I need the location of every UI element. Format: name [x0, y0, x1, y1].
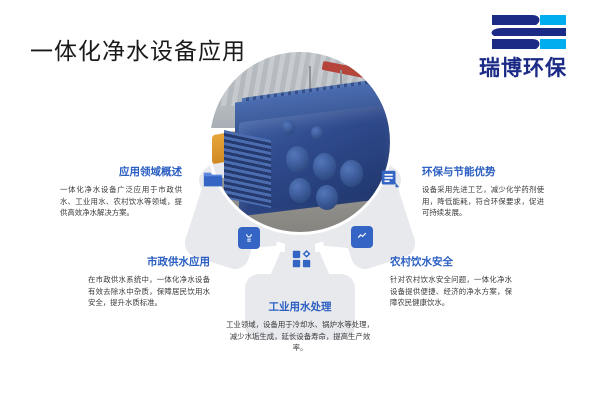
section-title: 环保与节能优势	[422, 165, 544, 179]
section-body: 一体化净水设备广泛应用于市政供水、工业用水、农村饮水等领域，提供高效净水解决方案…	[60, 184, 182, 219]
wave-lines-logo-mark	[488, 12, 568, 52]
list-document-icon	[379, 168, 401, 190]
grid-apps-icon	[291, 248, 313, 270]
document-card-icon	[238, 227, 260, 249]
folder-icon	[202, 168, 224, 190]
section-industrial: 工业用水处理 工业领域，设备用于冷却水、锅炉水等处理，减少水垢生成，延长设备寿命…	[225, 300, 375, 354]
infographic-slide: 一体化净水设备应用 瑞博环保	[0, 0, 600, 400]
section-body: 在市政供水系统中，一体化净水设备有效去除水中杂质，保障居民饮用水安全，提升水质标…	[88, 274, 210, 309]
section-rural: 农村饮水安全 针对农村饮水安全问题，一体化净水设备提供便捷、经济的净水方案，保障…	[390, 255, 512, 309]
section-eco: 环保与节能优势 设备采用先进工艺，减少化学药剂使用，降低能耗，符合环保要求，促进…	[422, 165, 544, 219]
section-title: 农村饮水安全	[390, 255, 512, 269]
section-body: 针对农村饮水安全问题，一体化净水设备提供便捷、经济的净水方案，保障农民健康饮水。	[390, 274, 512, 309]
brand-name: 瑞博环保	[460, 52, 586, 82]
brand-logo: 瑞博环保	[460, 10, 586, 84]
section-title: 应用领域概述	[60, 165, 182, 179]
section-title: 市政供水应用	[88, 255, 210, 269]
section-body: 设备采用先进工艺，减少化学药剂使用，降低能耗，符合环保要求，促进可持续发展。	[422, 184, 544, 219]
section-overview: 应用领域概述 一体化净水设备广泛应用于市政供水、工业用水、农村饮水等领域，提供高…	[60, 165, 182, 219]
center-photo	[210, 52, 390, 232]
section-title: 工业用水处理	[225, 300, 375, 314]
monitor-chart-icon	[351, 226, 373, 248]
water-treatment-equipment-photo	[210, 52, 390, 232]
section-body: 工业领域，设备用于冷却水、锅炉水等处理，减少水垢生成，延长设备寿命，提高生产效率…	[225, 319, 375, 354]
section-municipal: 市政供水应用 在市政供水系统中，一体化净水设备有效去除水中杂质，保障居民饮用水安…	[88, 255, 210, 309]
